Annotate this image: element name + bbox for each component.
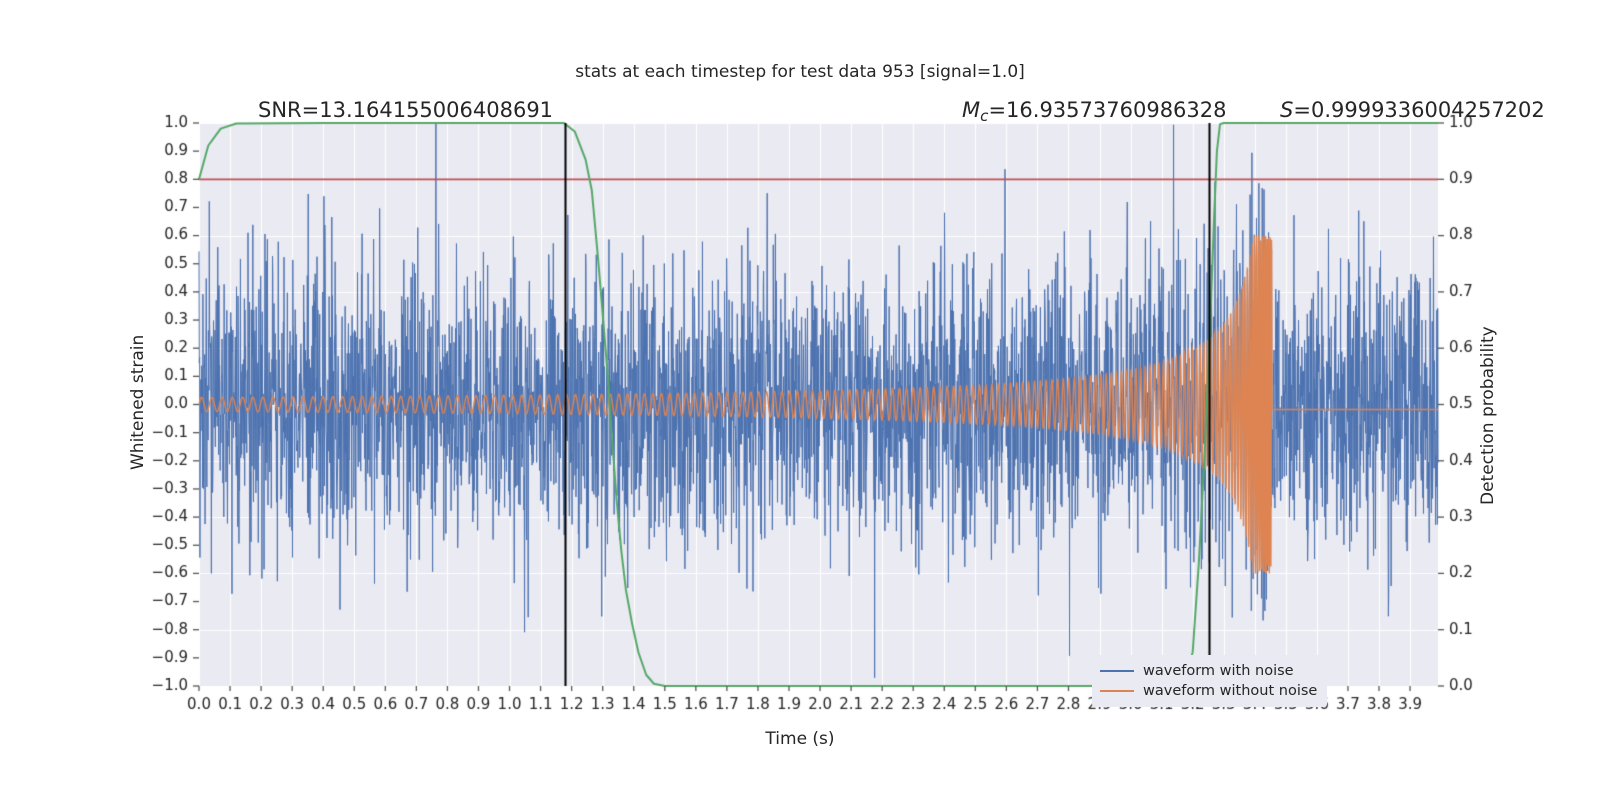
- chart-legend[interactable]: waveform with noise waveform without noi…: [1092, 655, 1327, 707]
- snr-annotation-label: SNR=: [258, 98, 319, 122]
- score-annotation: S=0.9999336004257202: [1280, 98, 1545, 122]
- legend-color-swatch: [1100, 670, 1134, 672]
- y-axis-left-label: Whitened strain: [128, 469, 148, 470]
- chirp-mass-symbol: M: [962, 98, 980, 122]
- chirp-mass-equals: =: [988, 98, 1006, 122]
- chirp-mass-value: 16.93573760986328: [1006, 98, 1226, 122]
- x-axis-label: Time (s): [0, 729, 1600, 749]
- chirp-mass-annotation: Mc=16.93573760986328: [962, 98, 1227, 125]
- y-axis-right-label: Detection probability: [1478, 504, 1498, 505]
- score-equals: =: [1293, 98, 1311, 122]
- page-title: stats at each timestep for test data 953…: [0, 62, 1600, 82]
- matplotlib-figure: stats at each timestep for test data 953…: [0, 0, 1600, 800]
- legend-color-swatch: [1100, 690, 1134, 692]
- snr-annotation: SNR=13.164155006408691: [258, 98, 553, 122]
- legend-item-waveform-without-noise[interactable]: waveform without noise: [1100, 681, 1317, 701]
- legend-item-waveform-with-noise[interactable]: waveform with noise: [1100, 661, 1317, 681]
- legend-item-label: waveform without noise: [1143, 683, 1317, 699]
- legend-item-label: waveform with noise: [1143, 663, 1294, 679]
- score-symbol: S: [1280, 98, 1293, 122]
- snr-annotation-value: 13.164155006408691: [319, 98, 553, 122]
- score-value: 0.9999336004257202: [1311, 98, 1545, 122]
